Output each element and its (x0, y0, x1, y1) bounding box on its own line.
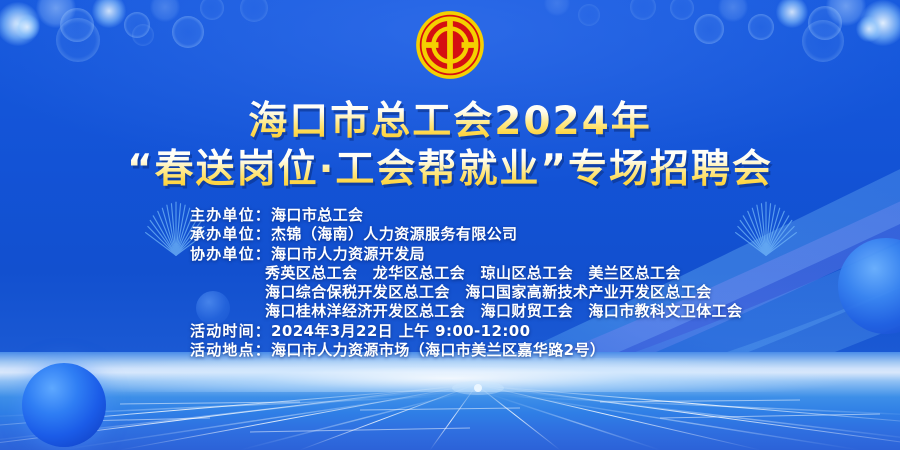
event-place-label: 活动地点： (190, 341, 271, 359)
coorganizer-row: 协办单位：海口市人力资源开发局 (190, 245, 830, 264)
organizer-row: 主办单位：海口市总工会 (190, 206, 830, 225)
undertaker-label: 承办单位： (190, 225, 271, 243)
title-line-2: “春送岗位·工会帮就业”专场招聘会 (0, 148, 900, 192)
background-lower-plane (0, 352, 900, 450)
event-place-row: 活动地点：海口市人力资源市场（海口市美兰区嘉华路2号） (190, 341, 830, 360)
title-line-1: 海口市总工会2024年 (0, 100, 900, 144)
perspective-speed-lines (0, 352, 900, 450)
event-time-value: 2024年3月22日 上午 9:00-12:00 (271, 322, 530, 340)
undertaker-row: 承办单位：杰锦（海南）人力资源服务有限公司 (190, 225, 830, 244)
recruitment-poster: 海口市总工会2024年 “春送岗位·工会帮就业”专场招聘会 主办单位：海口市总工… (0, 0, 900, 450)
event-time-row: 活动时间：2024年3月22日 上午 9:00-12:00 (190, 322, 830, 341)
coorganizer-extra-row: 海口综合保税开发区总工会 海口国家高新技术产业开发区总工会 (190, 283, 830, 302)
undertaker-value: 杰锦（海南）人力资源服务有限公司 (271, 225, 517, 243)
page-title: 海口市总工会2024年 “春送岗位·工会帮就业”专场招聘会 (0, 100, 900, 193)
event-info-block: 主办单位：海口市总工会 承办单位：杰锦（海南）人力资源服务有限公司 协办单位：海… (190, 206, 830, 360)
organizer-label: 主办单位： (190, 206, 271, 224)
coorganizer-extra-row: 海口桂林洋经济开发区总工会 海口财贸工会 海口市教科文卫体工会 (190, 302, 830, 321)
acftu-union-emblem (414, 9, 486, 81)
event-time-label: 活动时间： (190, 322, 271, 340)
coorganizer-value: 海口市人力资源开发局 (271, 245, 425, 263)
coorganizer-extra-row: 秀英区总工会 龙华区总工会 琼山区总工会 美兰区总工会 (190, 264, 830, 283)
coorganizer-label: 协办单位： (190, 245, 271, 263)
event-place-value: 海口市人力资源市场（海口市美兰区嘉华路2号） (271, 341, 605, 359)
organizer-value: 海口市总工会 (271, 206, 363, 224)
